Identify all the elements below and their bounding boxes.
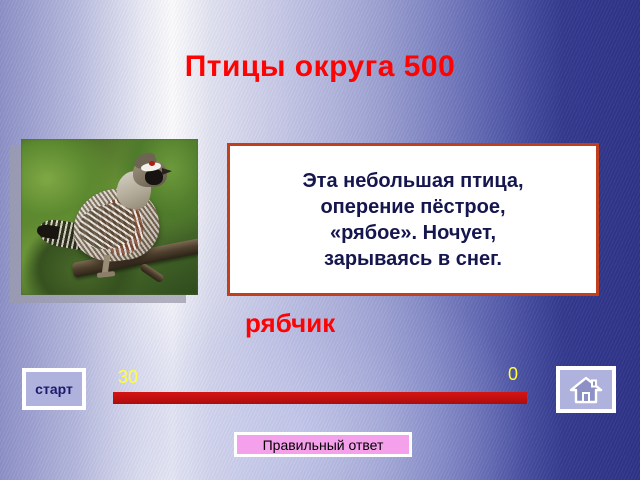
- home-icon: [569, 375, 603, 405]
- correct-answer-button[interactable]: Правильный ответ: [234, 432, 412, 457]
- answer-text: рябчик: [227, 308, 599, 339]
- start-button[interactable]: старт: [22, 368, 86, 410]
- timer-progress-bar[interactable]: [113, 392, 527, 404]
- correct-answer-label: Правильный ответ: [263, 437, 384, 453]
- timer-start-value: 30: [118, 367, 138, 388]
- page-title: Птицы округа 500: [0, 50, 640, 84]
- timer-end-value: 0: [508, 364, 518, 385]
- question-box: Эта небольшая птица, оперение пёстрое, «…: [227, 143, 599, 296]
- question-text: Эта небольшая птица, оперение пёстрое, «…: [292, 166, 533, 274]
- home-button[interactable]: [556, 366, 616, 413]
- timer-progress-fill: [113, 392, 527, 404]
- bird-photo: [21, 139, 198, 295]
- slide-canvas: Птицы округа 500 Эта небольшая птица, оп…: [0, 0, 640, 480]
- bird-eye: [149, 161, 155, 166]
- branch-stub: [139, 262, 165, 283]
- start-button-label: старт: [35, 381, 73, 397]
